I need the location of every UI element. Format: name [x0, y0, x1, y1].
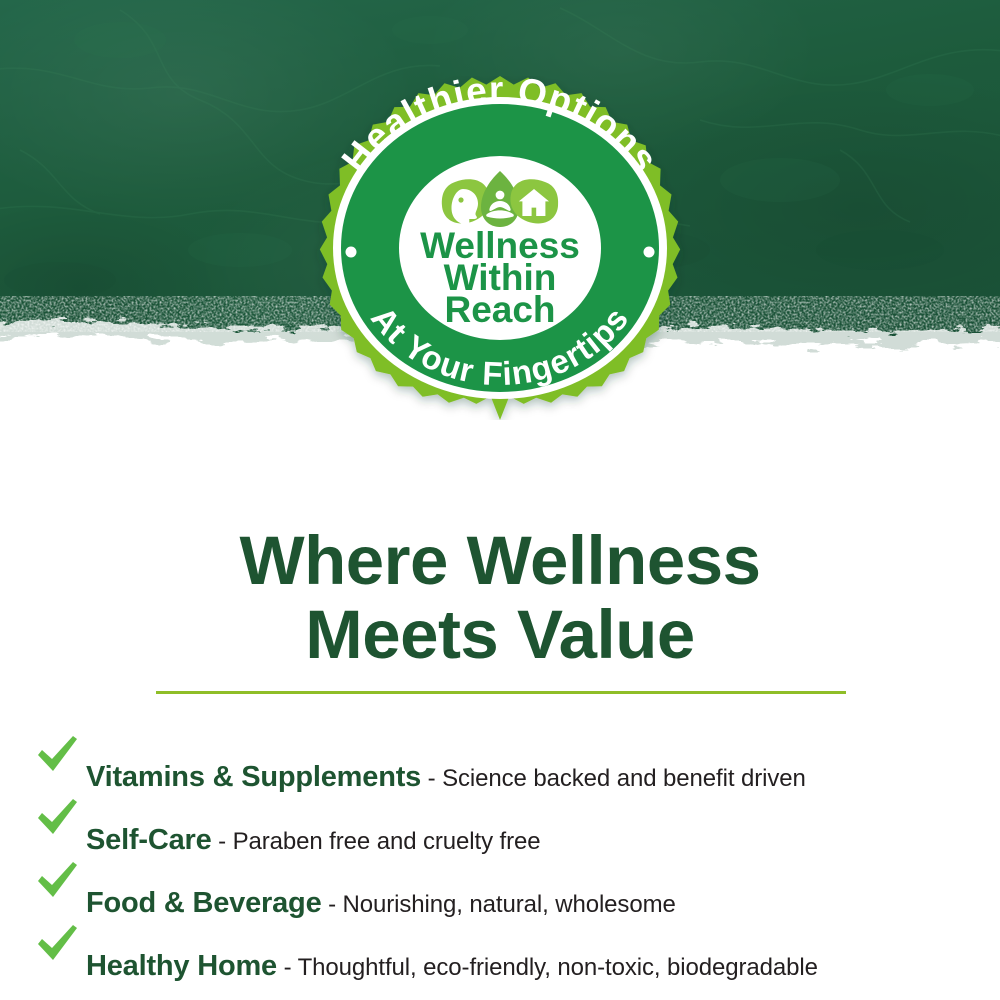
list-item-label: Self-Care	[86, 824, 212, 856]
headline-line-1: Where Wellness	[0, 524, 1000, 598]
list-item-description: Paraben free and cruelty free	[233, 828, 541, 855]
headline-divider	[156, 691, 846, 694]
list-item-text: Healthy Home - Thoughtful, eco-friendly,…	[86, 950, 985, 983]
list-item-label: Vitamins & Supplements	[86, 761, 421, 793]
check-icon	[30, 786, 86, 849]
list-item-label: Healthy Home	[86, 950, 277, 982]
list-item-description: Science backed and benefit driven	[442, 765, 806, 792]
list-item: Healthy Home - Thoughtful, eco-friendly,…	[30, 912, 985, 975]
promo-poster: Healthier Options At Your Fingertips	[0, 0, 1000, 1000]
check-icon	[30, 912, 86, 975]
list-item-dash: -	[421, 765, 442, 792]
badge-separator-dot-left	[346, 247, 357, 258]
list-item-label: Food & Beverage	[86, 887, 322, 919]
list-item-description: Nourishing, natural, wholesome	[343, 891, 676, 918]
list-item-dash: -	[212, 828, 233, 855]
badge-center-line-3: Reach	[444, 289, 555, 330]
headline-line-2: Meets Value	[0, 598, 1000, 672]
list-item: Self-Care - Paraben free and cruelty fre…	[30, 786, 985, 849]
wellness-badge: Healthier Options At Your Fingertips	[303, 76, 697, 420]
list-item: Vitamins & Supplements - Science backed …	[30, 723, 985, 786]
check-icon	[30, 849, 86, 912]
list-item-text: Vitamins & Supplements - Science backed …	[86, 761, 985, 794]
list-item-dash: -	[277, 954, 298, 981]
feature-list: Vitamins & Supplements - Science backed …	[30, 723, 985, 975]
list-item-text: Food & Beverage - Nourishing, natural, w…	[86, 887, 985, 920]
list-item-dash: -	[322, 891, 343, 918]
list-item-text: Self-Care - Paraben free and cruelty fre…	[86, 824, 985, 857]
list-item-description: Thoughtful, eco-friendly, non-toxic, bio…	[298, 954, 818, 981]
badge-separator-dot-right	[644, 247, 655, 258]
page-title: Where Wellness Meets Value	[0, 524, 1000, 672]
list-item: Food & Beverage - Nourishing, natural, w…	[30, 849, 985, 912]
check-icon	[30, 723, 86, 786]
